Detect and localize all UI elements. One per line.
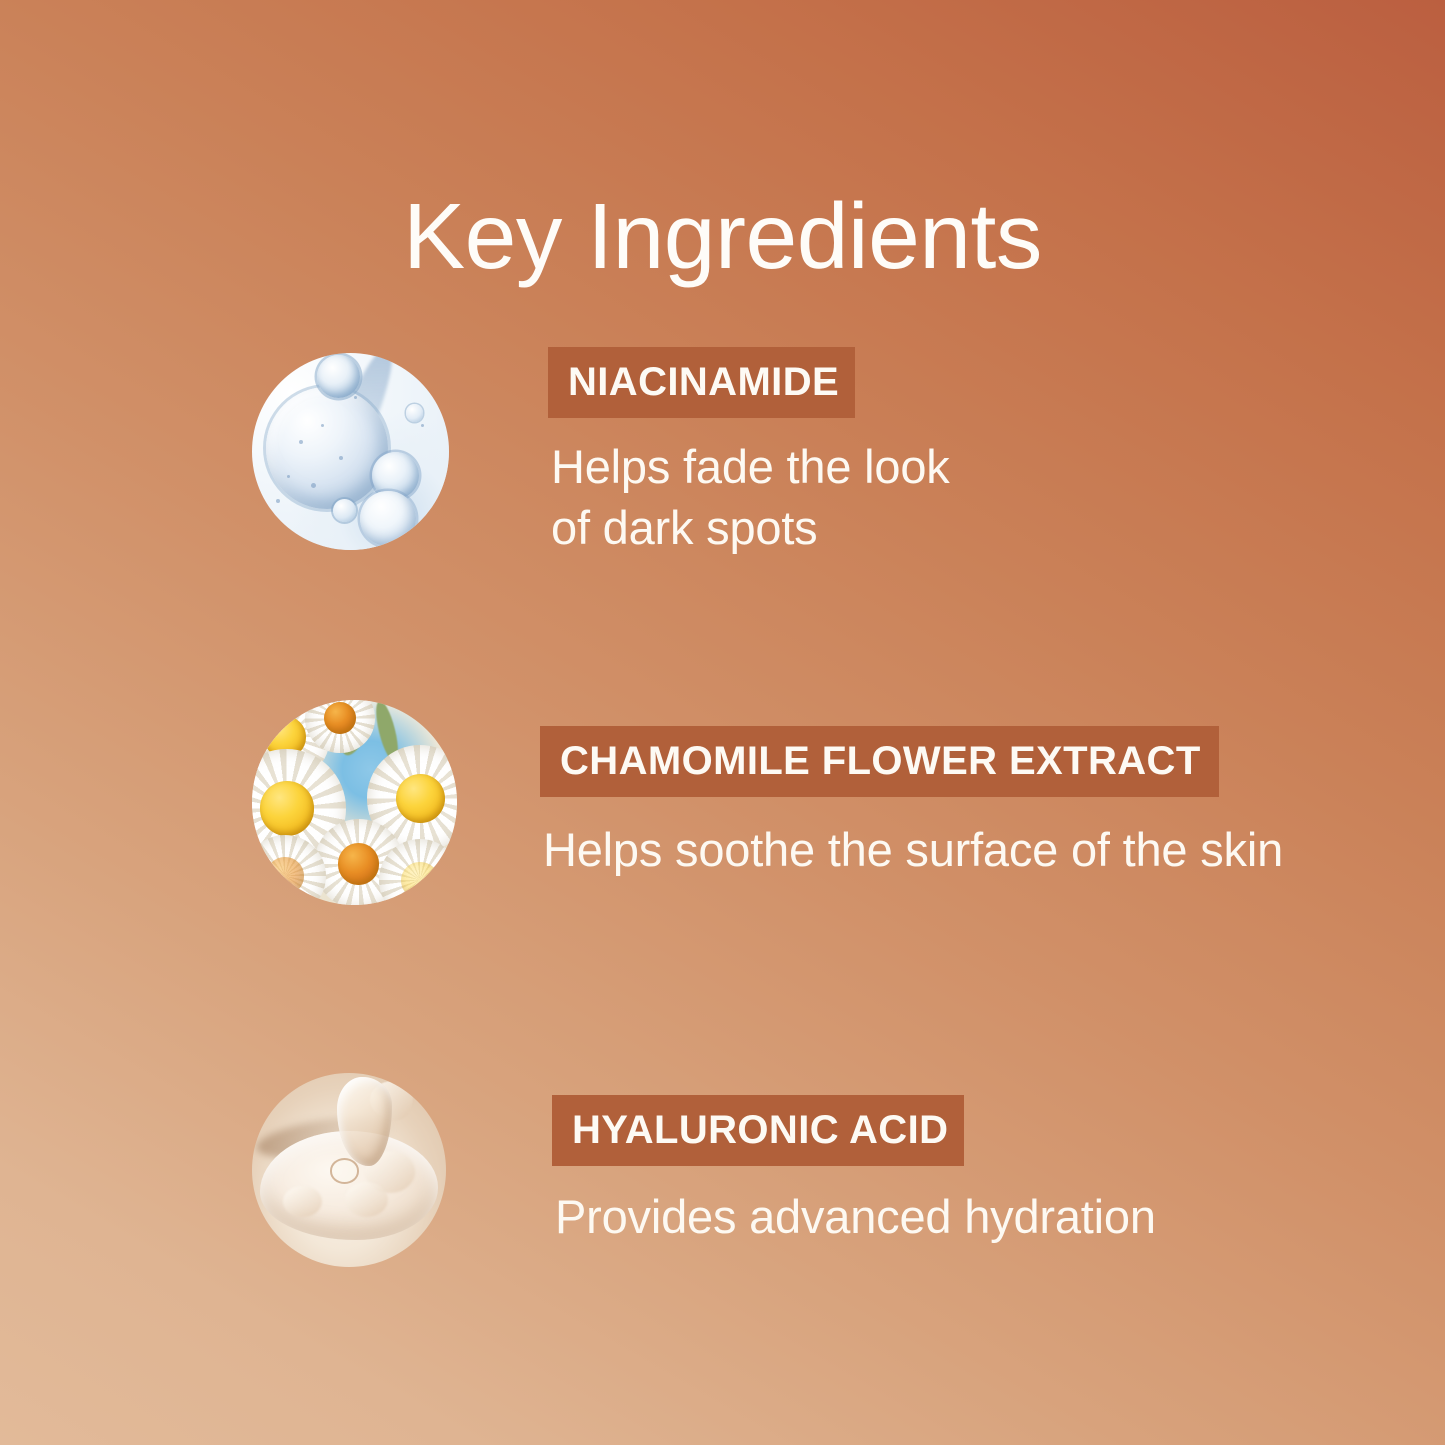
daisy-center <box>260 781 315 836</box>
gel-speck <box>321 424 324 427</box>
thumbnail-wrapper-chamomile <box>252 700 462 905</box>
daisy-flower <box>305 700 375 753</box>
ingredient-name-hyaluronic-acid: HYALURONIC ACID <box>552 1095 964 1166</box>
ingredient-description-hyaluronic-acid: Provides advanced hydration <box>555 1186 1445 1247</box>
ingredient-description-chamomile: Helps soothe the surface of the skin <box>543 819 1445 880</box>
page-title: Key Ingredients <box>0 186 1445 286</box>
gel-speck <box>421 424 424 427</box>
gel-bubble-ring <box>330 1158 359 1183</box>
daisy-center <box>396 774 445 823</box>
gel-speck <box>339 456 343 460</box>
text-block-niacinamide: NIACINAMIDE Helps fade the look of dark … <box>548 345 1445 558</box>
bubble-small <box>333 499 357 523</box>
gel-speck <box>276 499 280 503</box>
hyaluronic-acid-serum-image <box>252 1073 446 1267</box>
daisy-flower <box>379 839 457 905</box>
chamomile-flowers-image <box>252 700 457 905</box>
serum-gel-artwork <box>252 1073 446 1267</box>
bubble-large <box>266 387 388 509</box>
thumbnail-wrapper-hyaluronic-acid <box>252 1073 462 1267</box>
daisy-flower <box>252 835 326 905</box>
chamomile-artwork <box>252 700 457 905</box>
text-block-hyaluronic-acid: HYALURONIC ACID Provides advanced hydrat… <box>552 1093 1445 1247</box>
ingredient-row-niacinamide: NIACINAMIDE Helps fade the look of dark … <box>0 345 1445 558</box>
thumbnail-wrapper-niacinamide <box>252 353 462 550</box>
ingredient-name-niacinamide: NIACINAMIDE <box>548 347 855 418</box>
daisy-center <box>338 843 379 884</box>
bubble-small-2 <box>406 404 424 422</box>
niacinamide-gel-bubbles-image <box>252 353 449 550</box>
text-block-chamomile: CHAMOMILE FLOWER EXTRACT Helps soothe th… <box>540 724 1445 880</box>
bubble-bottom-right <box>360 491 415 546</box>
gel-blob <box>283 1186 322 1217</box>
daisy-center <box>401 862 439 900</box>
gel-bubbles-artwork <box>252 353 449 550</box>
daisy-center <box>266 857 304 895</box>
ingredient-row-chamomile: CHAMOMILE FLOWER EXTRACT Helps soothe th… <box>0 700 1445 905</box>
ingredient-row-hyaluronic-acid: HYALURONIC ACID Provides advanced hydrat… <box>0 1073 1445 1267</box>
ingredient-name-chamomile: CHAMOMILE FLOWER EXTRACT <box>540 726 1219 797</box>
ingredient-description-niacinamide: Helps fade the look of dark spots <box>551 436 1445 558</box>
gel-blob <box>345 1182 388 1217</box>
key-ingredients-poster: Key Ingredients <box>0 0 1445 1445</box>
